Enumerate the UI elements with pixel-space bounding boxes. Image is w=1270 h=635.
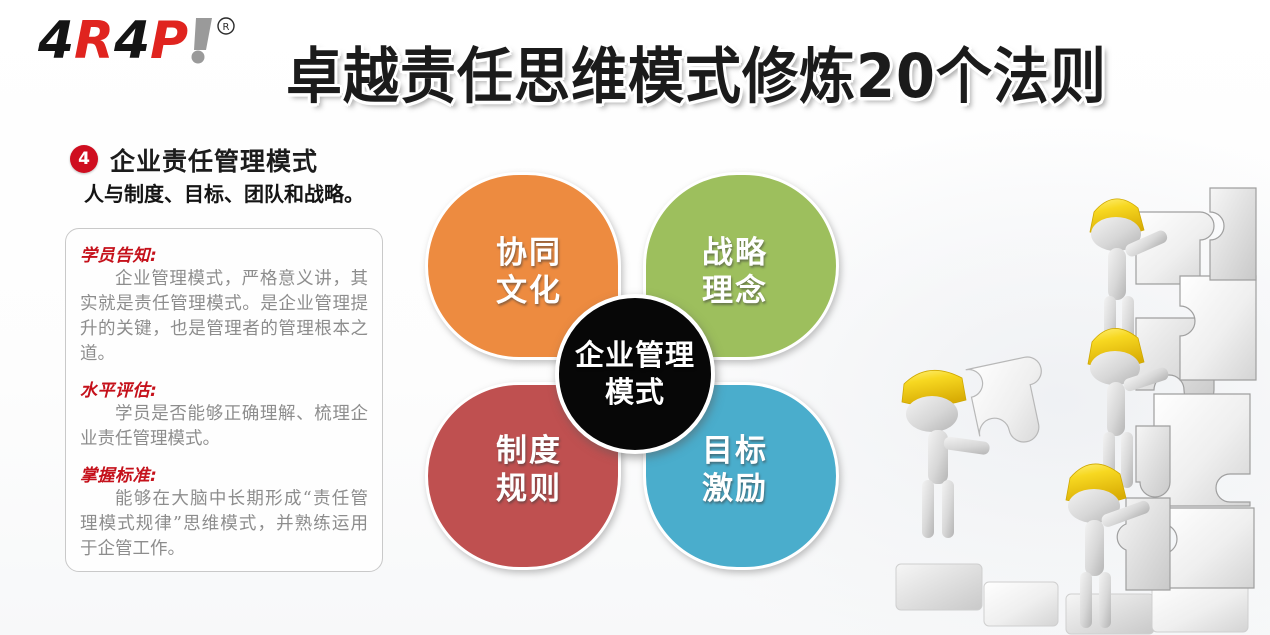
loose-puzzle-piece-icon bbox=[966, 354, 1056, 451]
brand-logo: 4 R 4 P R bbox=[36, 12, 266, 74]
diagram-petal-label: 协同文化 bbox=[496, 234, 562, 310]
info-block-assessment: 水平评估: 学员是否能够正确理解、梳理企业责任管理模式。 bbox=[80, 376, 368, 452]
svg-text:R: R bbox=[74, 12, 114, 71]
diagram-center-label: 企业管理模式 bbox=[575, 337, 695, 411]
diagram-petal-label: 目标激励 bbox=[702, 432, 768, 508]
svg-text:4: 4 bbox=[37, 12, 74, 71]
info-block-body: 企业管理模式，严格意义讲，其实就是责任管理模式。是企业管理提升的关键，也是管理者… bbox=[80, 267, 368, 367]
slide-canvas: 4 R 4 P R 卓越责任思维模式修炼20个法则 4 企业责任管理模式 人与制… bbox=[0, 0, 1270, 635]
info-card: 学员告知: 企业管理模式，严格意义讲，其实就是责任管理模式。是企业管理提升的关键… bbox=[65, 228, 383, 572]
exclamation-icon bbox=[192, 18, 213, 64]
teamwork-puzzle-illustration bbox=[880, 96, 1270, 635]
management-model-diagram: 协同文化 战略理念 制度规则 目标激励 企业管理模式 bbox=[425, 172, 845, 574]
diagram-center-node[interactable]: 企业管理模式 bbox=[555, 294, 715, 454]
info-block-standard: 掌握标准: 能够在大脑中长期形成“责任管理模式规律”思维模式，并熟练运用于企管工… bbox=[80, 461, 368, 562]
svg-text:P: P bbox=[150, 12, 188, 71]
diagram-petal-label: 战略理念 bbox=[702, 234, 768, 310]
section-number-badge: 4 bbox=[70, 145, 98, 173]
info-block-body: 学员是否能够正确理解、梳理企业责任管理模式。 bbox=[80, 402, 368, 452]
info-block-title: 水平评估: bbox=[80, 376, 368, 401]
registered-trademark-icon: R bbox=[218, 18, 234, 34]
section-subheading: 人与制度、目标、团队和战略。 bbox=[84, 178, 364, 207]
info-block-title: 掌握标准: bbox=[80, 461, 368, 486]
info-block-body: 能够在大脑中长期形成“责任管理模式规律”思维模式，并熟练运用于企管工作。 bbox=[80, 487, 368, 562]
svg-text:4: 4 bbox=[113, 12, 150, 71]
diagram-petal-label: 制度规则 bbox=[496, 432, 562, 508]
info-block-notice: 学员告知: 企业管理模式，严格意义讲，其实就是责任管理模式。是企业管理提升的关键… bbox=[80, 241, 368, 367]
section-heading: 企业责任管理模式 bbox=[110, 142, 318, 178]
svg-text:R: R bbox=[223, 22, 230, 33]
info-block-title: 学员告知: bbox=[80, 241, 368, 266]
